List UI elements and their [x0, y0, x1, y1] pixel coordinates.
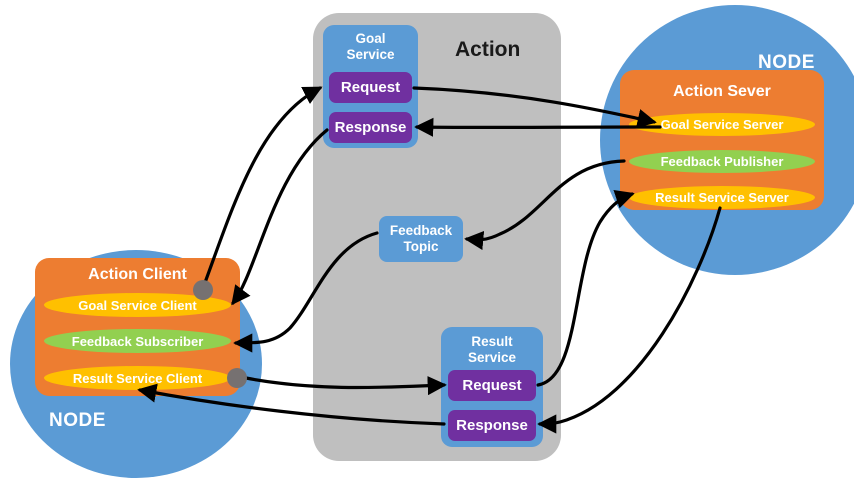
feedback-publisher-pill[interactable]: Feedback Publisher [629, 150, 815, 173]
feedback-topic-line2: Topic [404, 239, 439, 255]
server-node-label: NODE [758, 52, 815, 74]
result-service-title-line2: Service [441, 350, 543, 365]
action-server-title: Action Sever [620, 83, 824, 101]
feedback-topic-box[interactable]: Feedback Topic [379, 216, 463, 262]
goal-client-connector-dot [193, 280, 213, 300]
result-client-connector-dot [227, 368, 247, 388]
action-container-title: Action [455, 38, 520, 62]
goal-service-response[interactable]: Response [329, 112, 412, 143]
goal-service-server-pill[interactable]: Goal Service Server [629, 113, 815, 136]
goal-service-title-line1: Goal [323, 31, 418, 46]
result-service-title-line1: Result [441, 334, 543, 349]
goal-service-title-line2: Service [323, 47, 418, 62]
goal-service-request[interactable]: Request [329, 72, 412, 103]
feedback-subscriber-pill[interactable]: Feedback Subscriber [44, 329, 231, 353]
result-service-response[interactable]: Response [448, 410, 536, 441]
result-service-request[interactable]: Request [448, 370, 536, 401]
result-service-server-pill[interactable]: Result Service Server [629, 186, 815, 209]
client-node-label: NODE [49, 410, 106, 432]
result-service-client-pill[interactable]: Result Service Client [44, 366, 231, 390]
feedback-topic-line1: Feedback [390, 223, 452, 239]
action-diagram-canvas: Action Action Client Goal Service Client… [0, 0, 854, 480]
